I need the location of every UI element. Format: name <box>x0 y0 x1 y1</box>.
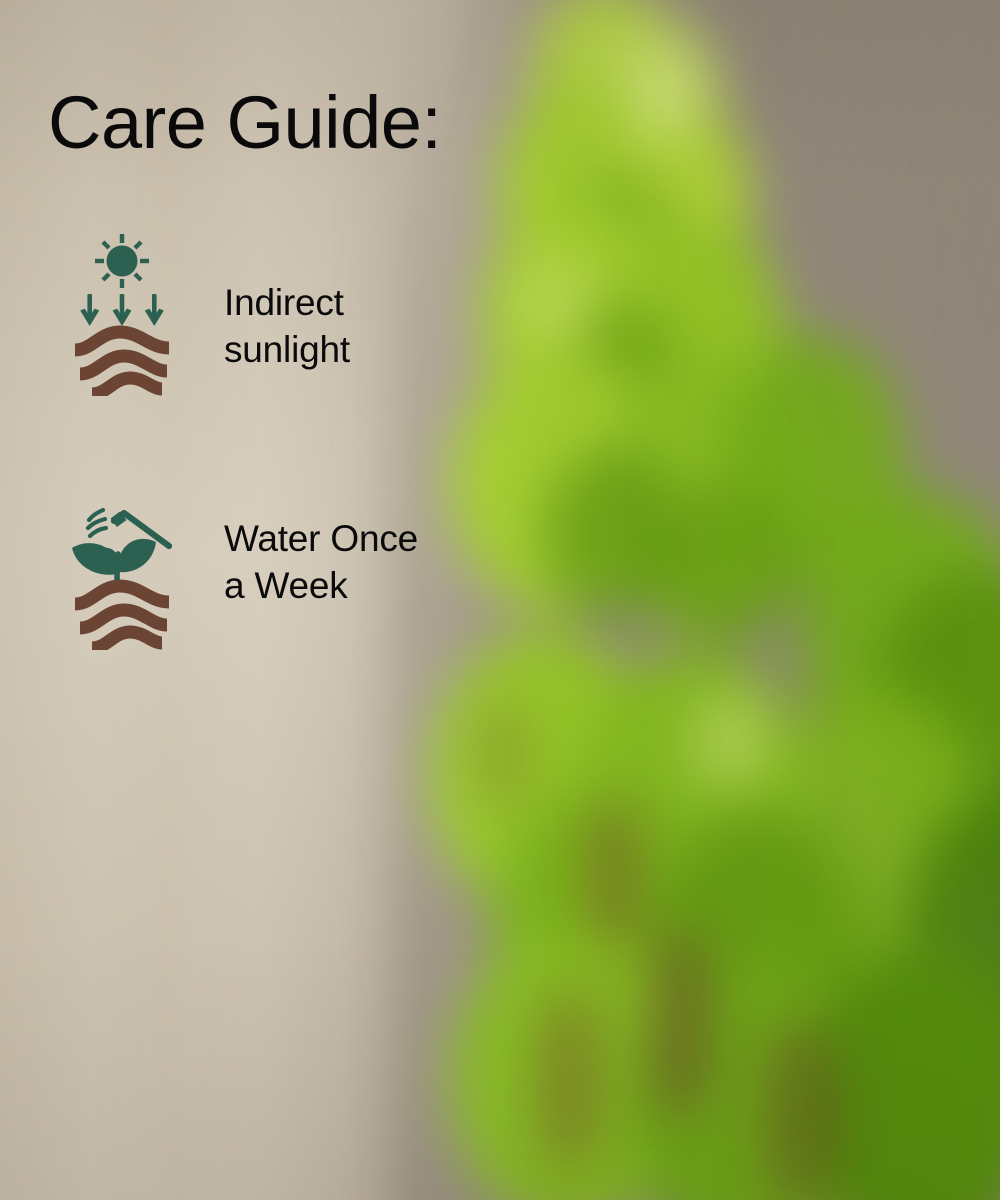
watering-sprout-over-soil-icon <box>70 500 174 650</box>
sun-over-soil-icon <box>70 228 174 396</box>
care-guide-card: Care Guide: <box>0 0 1000 1200</box>
care-guide-content: Care Guide: <box>0 0 560 1200</box>
care-item-label: Water Once a Week <box>224 516 418 609</box>
care-item-label: Indirect sunlight <box>224 280 350 373</box>
care-item-indirect-sunlight: Indirect sunlight <box>70 228 350 396</box>
page-title: Care Guide: <box>48 83 441 163</box>
care-item-water-once-a-week: Water Once a Week <box>70 500 418 650</box>
